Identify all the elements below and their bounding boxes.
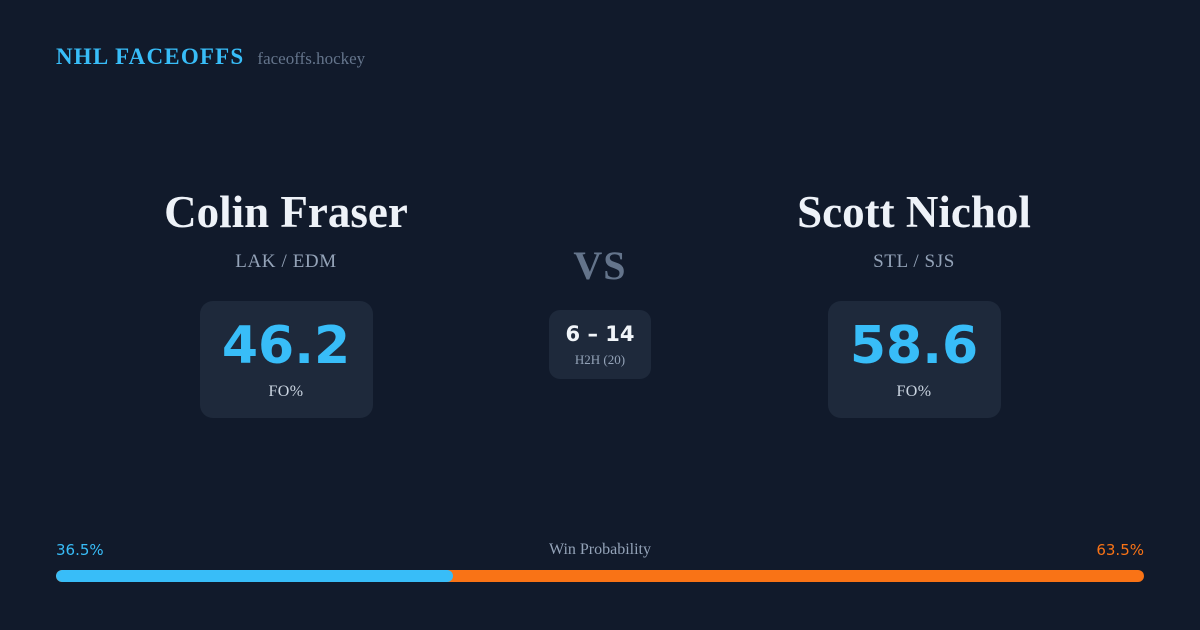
- player-left-teams: LAK / EDM: [235, 252, 336, 271]
- player-right: Scott Nichol STL / SJS 58.6 FO%: [700, 190, 1128, 418]
- player-right-name: Scott Nichol: [797, 190, 1031, 235]
- win-probability-bar-left-fill: [56, 570, 453, 582]
- win-probability-bar: [56, 570, 1144, 582]
- player-right-stat-card: 58.6 FO%: [828, 301, 1001, 418]
- player-left: Colin Fraser LAK / EDM 46.2 FO%: [72, 190, 500, 418]
- win-probability-right-value: 63.5%: [1096, 540, 1144, 560]
- player-left-faceoff-pct: 46.2: [222, 320, 350, 372]
- win-probability-section: 36.5% Win Probability 63.5%: [56, 540, 1144, 582]
- versus-label: VS: [573, 246, 626, 286]
- head-to-head-card: 6 – 14 H2H (20): [549, 310, 651, 379]
- player-right-faceoff-pct: 58.6: [850, 320, 978, 372]
- player-left-stat-card: 46.2 FO%: [200, 301, 373, 418]
- player-left-name: Colin Fraser: [164, 190, 408, 235]
- site-header: NHL FACEOFFS faceoffs.hockey: [56, 45, 365, 68]
- player-right-teams: STL / SJS: [873, 252, 955, 271]
- faceoff-matchup-card: NHL FACEOFFS faceoffs.hockey Colin Frase…: [0, 0, 1200, 630]
- player-left-stat-label: FO%: [269, 384, 304, 400]
- win-probability-labels: 36.5% Win Probability 63.5%: [56, 540, 1144, 560]
- player-right-stat-label: FO%: [897, 384, 932, 400]
- versus-column: VS 6 – 14 H2H (20): [500, 190, 700, 379]
- head-to-head-label: H2H (20): [575, 353, 625, 366]
- matchup-row: Colin Fraser LAK / EDM 46.2 FO% VS 6 – 1…: [0, 190, 1200, 418]
- head-to-head-score: 6 – 14: [566, 324, 635, 345]
- brand-domain: faceoffs.hockey: [257, 50, 365, 67]
- win-probability-caption: Win Probability: [56, 540, 1144, 560]
- brand-title: NHL FACEOFFS: [56, 45, 244, 68]
